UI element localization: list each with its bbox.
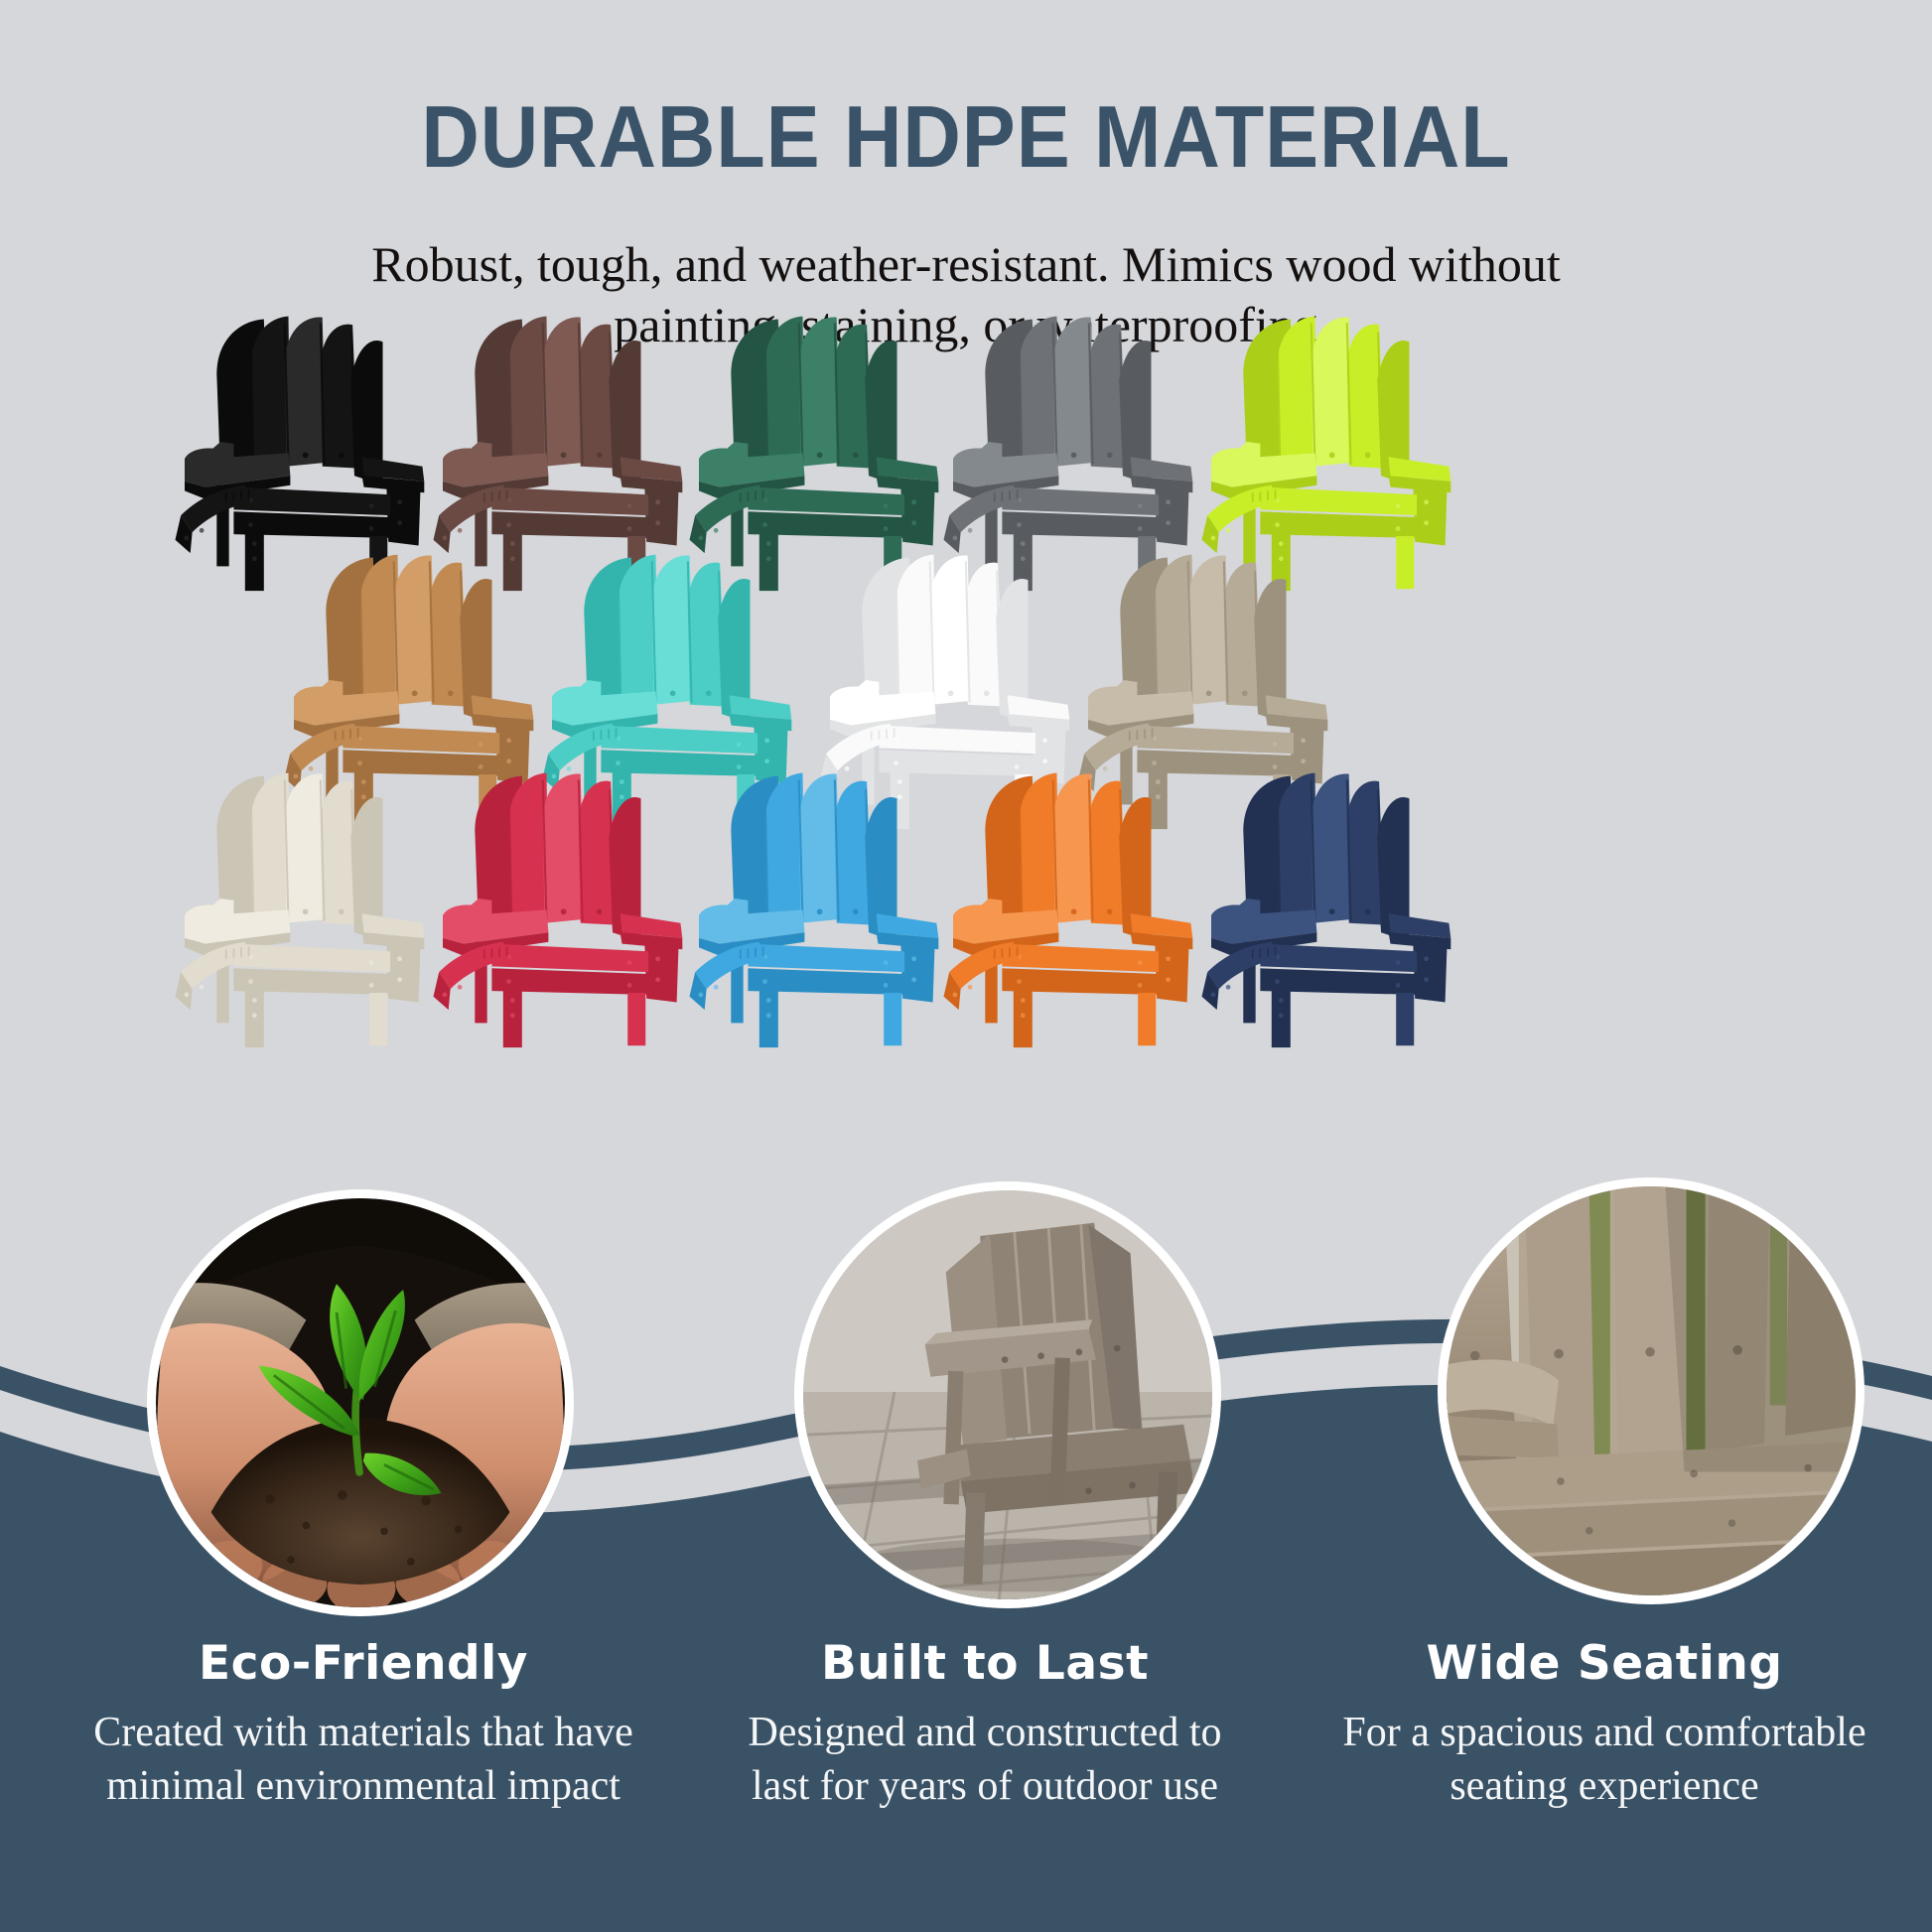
feature-body: Created with materials that have minimal… — [36, 1707, 691, 1814]
chair-seat — [748, 944, 904, 995]
feature-body-line-1: Created with materials that have — [93, 1710, 632, 1755]
rear-leg — [1396, 536, 1414, 589]
feature-heading: Built to Last — [657, 1636, 1312, 1691]
front-leg — [759, 989, 778, 1047]
rear-leg — [884, 993, 901, 1045]
infographic-canvas: DURABLE HDPE MATERIAL Robust, tough, and… — [0, 0, 1932, 1932]
feature-photo-wide-seating — [1438, 1177, 1864, 1604]
rear-leg — [369, 993, 387, 1045]
color-swatch-grid — [0, 0, 1932, 1281]
rear-leg — [1138, 993, 1156, 1045]
feature-body-line-2: seating experience — [1449, 1763, 1758, 1809]
feature-photo-eco-friendly — [147, 1189, 574, 1616]
chair-swatch-red[interactable] — [405, 755, 688, 1042]
front-leg — [1272, 989, 1291, 1047]
feature-eco-friendly: Eco-Friendly Created with materials that… — [36, 1636, 691, 1814]
front-leg — [1014, 989, 1033, 1047]
chair-seat — [1002, 487, 1159, 538]
chair-swatch-sky-blue[interactable] — [661, 755, 944, 1042]
feature-body-line-2: last for years of outdoor use — [752, 1763, 1218, 1809]
feature-body-line-1: For a spacious and comfortable — [1342, 1710, 1865, 1755]
chair-swatch-navy-blue[interactable] — [1173, 755, 1456, 1042]
chair-seat — [1260, 487, 1417, 538]
chair-seat — [1002, 944, 1159, 995]
feature-heading: Wide Seating — [1277, 1636, 1932, 1691]
chair-seat — [491, 944, 648, 995]
feature-body: Designed and constructed to last for yea… — [657, 1707, 1312, 1814]
front-leg — [503, 989, 522, 1047]
rear-leg — [1396, 993, 1414, 1045]
chair-seat — [233, 944, 390, 995]
feature-body-line-1: Designed and constructed to — [748, 1710, 1221, 1755]
feature-heading: Eco-Friendly — [36, 1636, 691, 1691]
chair-seat — [748, 487, 904, 538]
feature-built-to-last: Built to Last Designed and constructed t… — [657, 1636, 1312, 1814]
feature-body: For a spacious and comfortable seating e… — [1277, 1707, 1932, 1814]
rear-leg — [627, 993, 645, 1045]
front-leg — [245, 989, 264, 1047]
chair-swatch-orange[interactable] — [915, 755, 1198, 1042]
feature-body-line-2: minimal environmental impact — [106, 1763, 621, 1809]
chair-seat — [1260, 944, 1417, 995]
chair-swatch-ivory-beige[interactable] — [147, 755, 430, 1042]
chair-seat — [233, 487, 390, 538]
feature-photo-built-to-last — [794, 1181, 1221, 1608]
chair-seat — [491, 487, 648, 538]
feature-wide-seating: Wide Seating For a spacious and comforta… — [1277, 1636, 1932, 1814]
